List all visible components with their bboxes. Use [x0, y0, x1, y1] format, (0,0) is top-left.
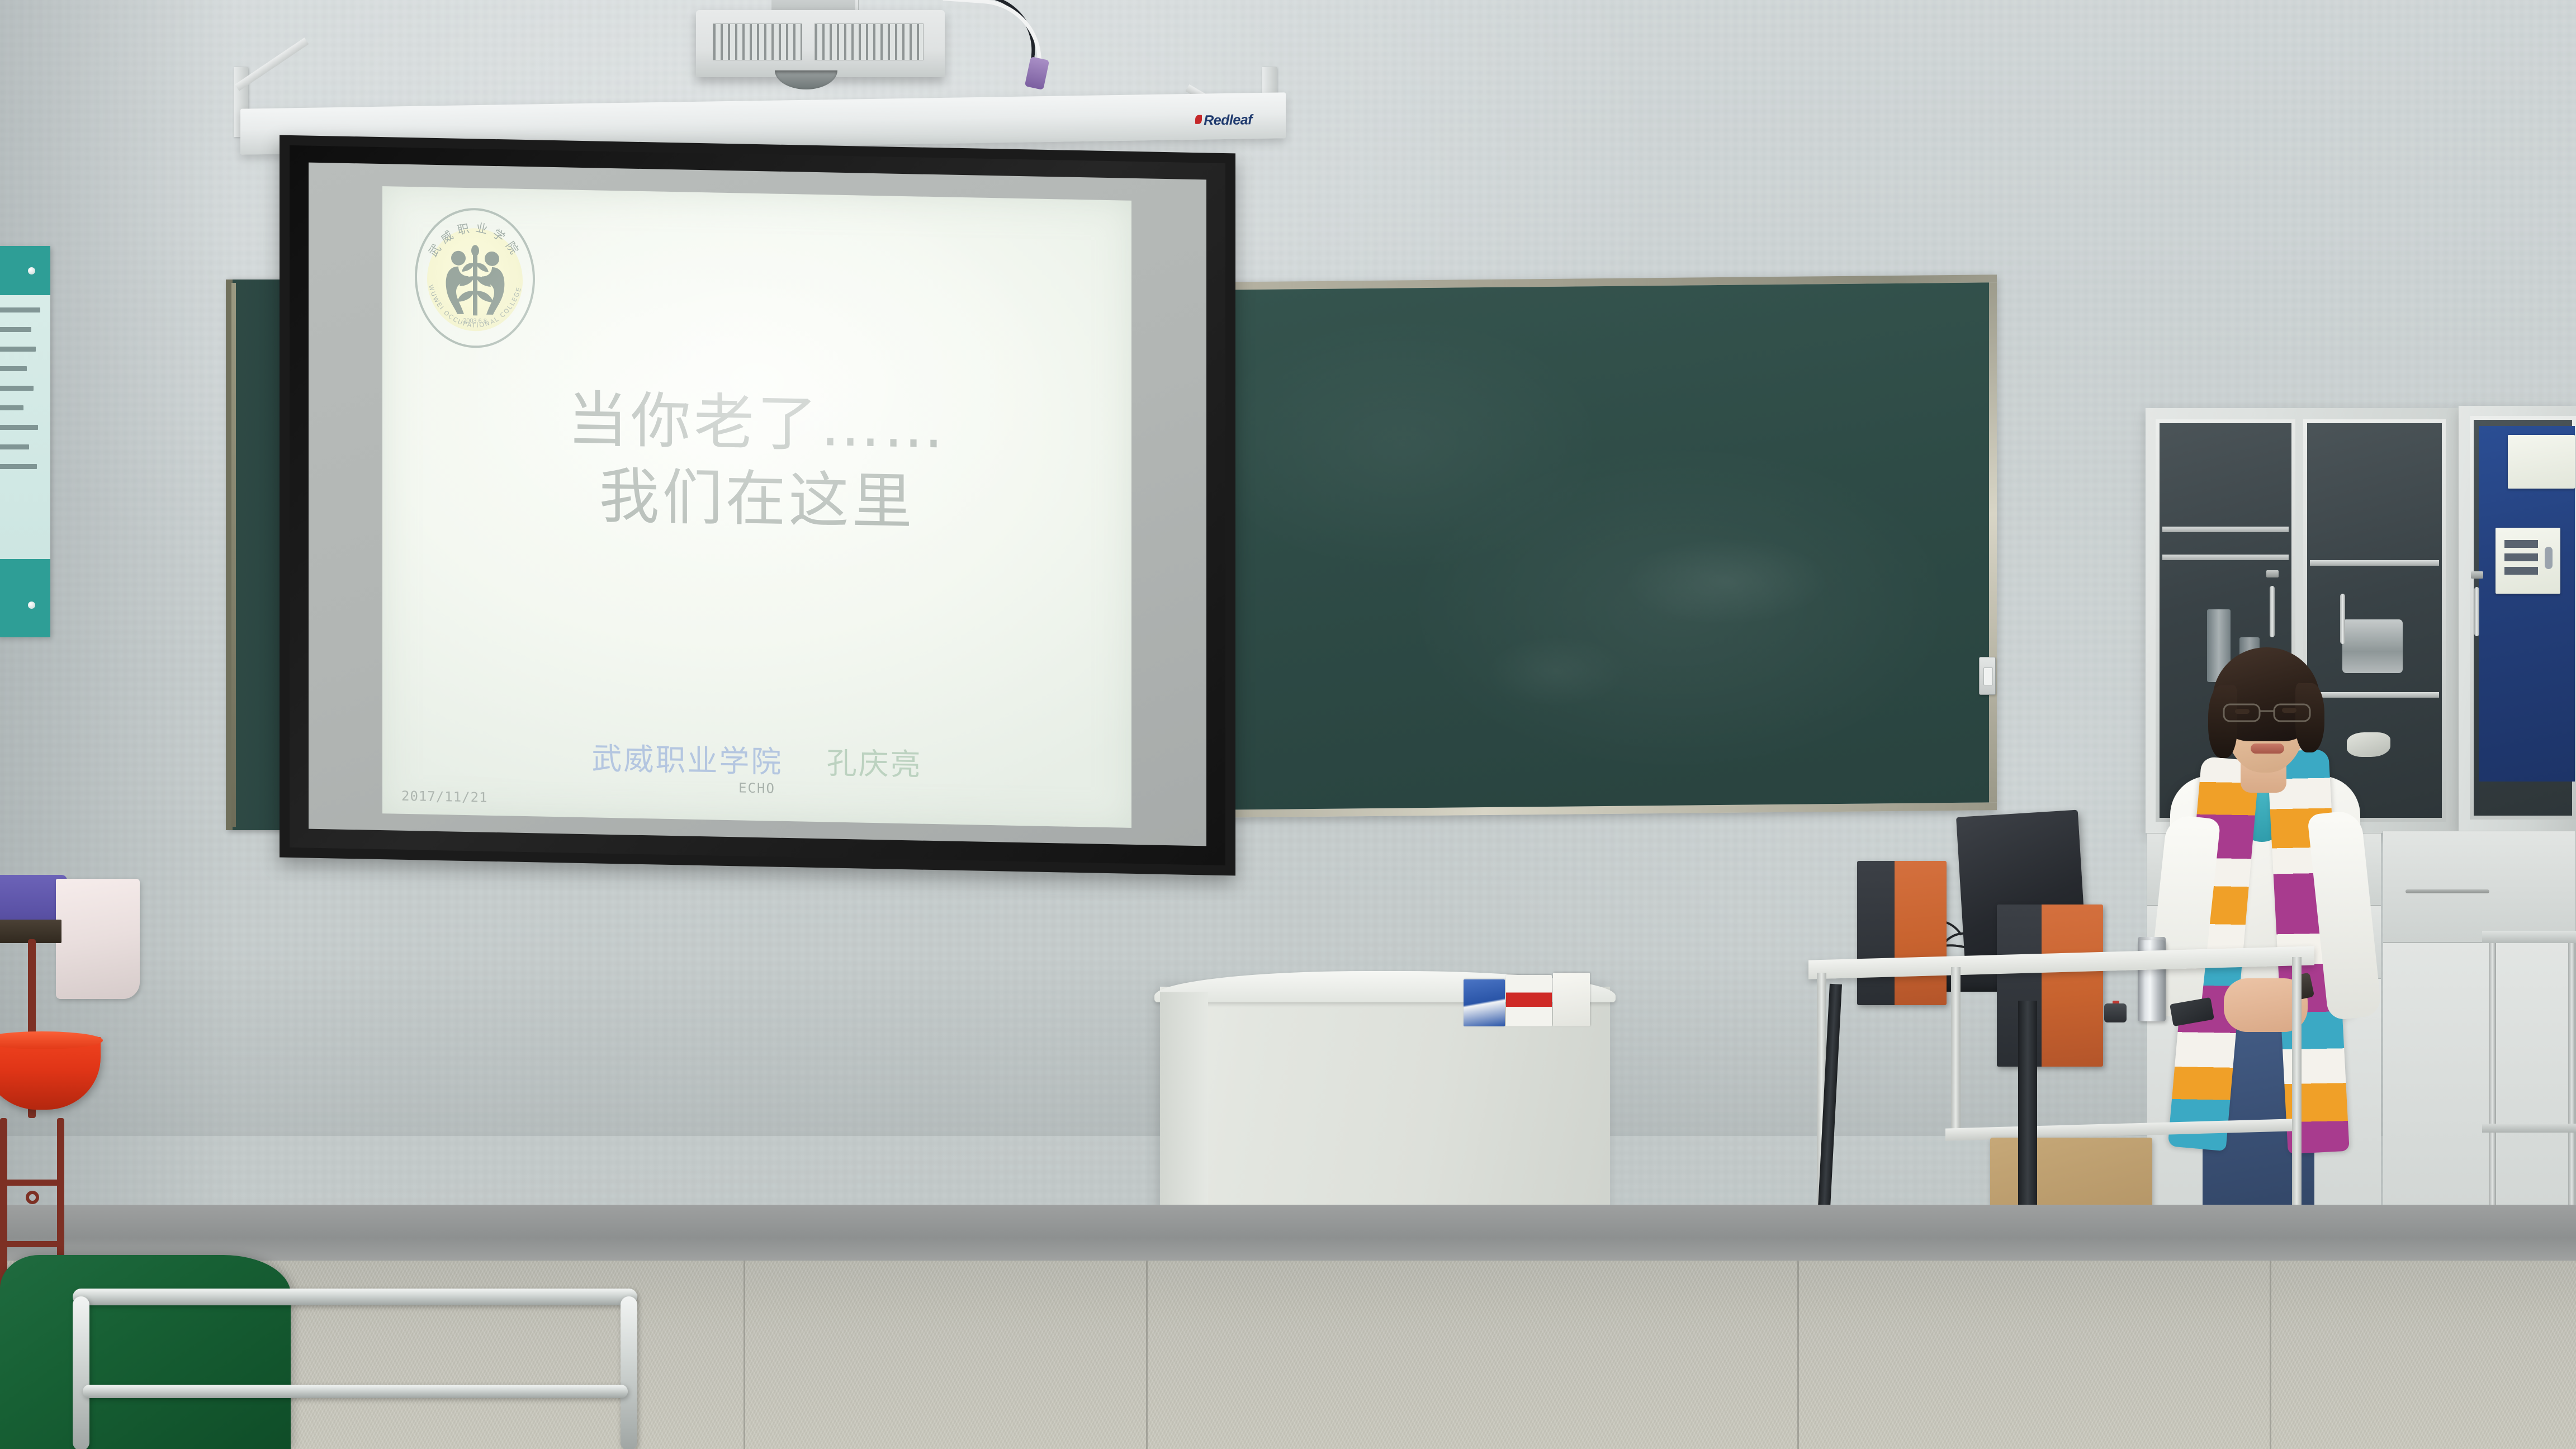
poster-card-top: [2508, 435, 2575, 489]
hanging-towel: [56, 879, 140, 999]
cabinet-left-handle-1[interactable]: [2270, 586, 2275, 637]
cabinet-right[interactable]: [2459, 406, 2576, 831]
presenter-eye-right: [2282, 708, 2296, 713]
teal-wall-notice-board: [0, 246, 50, 637]
poster-pin-bottom: [28, 602, 35, 609]
trolley-shelf: [2482, 1124, 2576, 1133]
redleaf-logo-icon: [1195, 115, 1202, 124]
cabinet-shelf-3: [2310, 560, 2439, 566]
desk-leg-back-left: [1951, 967, 1961, 1135]
metal-trolley-top: [2482, 931, 2576, 943]
wall-baseboard: [0, 1205, 2576, 1265]
cabinet-right-lock[interactable]: [2471, 571, 2483, 579]
presenter-mouth: [2251, 744, 2284, 754]
projector-vent-right: [815, 23, 924, 60]
podium-blue-box[interactable]: [1464, 979, 1505, 1026]
poster-pin-top: [28, 267, 35, 274]
speaker-left-face: [1895, 861, 1947, 1005]
hospital-bed-rail: [73, 1289, 637, 1449]
ceiling-projector: [696, 10, 945, 77]
presentation-slide[interactable]: 武威职业学院 WUWEI OCCUPATIONAL COLLEGE 2003.6…: [382, 186, 1131, 828]
podium-red-medicine-box[interactable]: [1506, 975, 1552, 1026]
wall-light-switch[interactable]: [1979, 657, 1996, 695]
speaker-right[interactable]: [1997, 905, 2103, 1067]
slide-title-line2: 我们在这里: [382, 454, 1131, 545]
green-chalkboard: [1209, 274, 1997, 818]
chalkboard-surface: [1216, 282, 1989, 809]
poster-equipment-panel: [2495, 528, 2560, 594]
projector-vent-left: [713, 23, 802, 60]
slide-organization: 武威职业学院: [591, 741, 783, 780]
screen-surface: 武威职业学院 WUWEI OCCUPATIONAL COLLEGE 2003.6…: [309, 163, 1206, 846]
podium-white-box[interactable]: [1553, 973, 1590, 1026]
seal-arc-text-bottom: WUWEI OCCUPATIONAL COLLEGE: [415, 207, 535, 349]
speaker-left[interactable]: [1857, 861, 1947, 1005]
classroom-photo-scene: Redleaf: [0, 0, 2576, 1449]
cabinet-right-handle[interactable]: [2474, 587, 2479, 636]
college-seal-logo: 武威职业学院 WUWEI OCCUPATIONAL COLLEGE 2003.6…: [415, 207, 535, 349]
slide-title-line1: 当你老了……: [382, 378, 1131, 469]
cabinet-blue-poster: [2479, 426, 2575, 782]
cabinet-shelf-1: [2162, 527, 2289, 532]
speaker-left-side: [1857, 861, 1896, 1005]
slide-presenter: 孔庆亮: [827, 745, 922, 782]
poster-text-lines: [0, 307, 50, 548]
chalk-smudges: [1216, 282, 1989, 809]
cabinet-shelf-2: [2162, 555, 2289, 560]
presenter-eye-left: [2235, 709, 2250, 714]
cabinet-left-lock[interactable]: [2266, 570, 2279, 577]
screen-brand-label: Redleaf: [1204, 112, 1252, 129]
slide-date: 2017/11/21: [401, 788, 488, 806]
speaker-right-face: [2042, 905, 2103, 1067]
projection-screen[interactable]: 武威职业学院 WUWEI OCCUPATIONAL COLLEGE 2003.6…: [280, 135, 1235, 876]
presenter-glasses-icon: [2220, 700, 2313, 726]
slide-title: 当你老了…… 我们在这里: [382, 378, 1131, 545]
computer-mouse[interactable]: [2104, 1003, 2127, 1022]
